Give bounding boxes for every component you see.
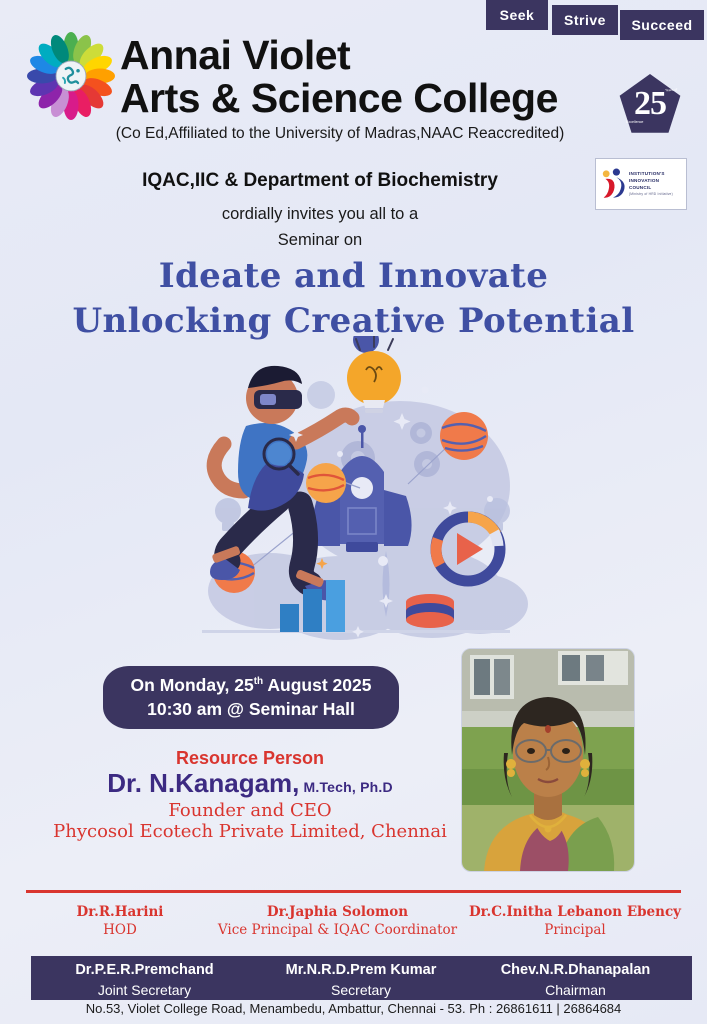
seminar-title: Ideate and Innovate Unlocking Creative P… xyxy=(0,254,707,344)
organizing-department: IQAC,IIC & Department of Biochemistry xyxy=(40,170,600,192)
flower-logo-icon xyxy=(27,32,115,120)
staff-row: Dr.R.Harini HOD Dr.Japhia Solomon Vice P… xyxy=(0,900,707,948)
resource-person-name: Dr. N.Kanagam, M.Tech, Ph.D xyxy=(30,768,470,799)
management-name: Chev.N.R.Dhanapalan xyxy=(468,961,683,981)
event-date: On Monday, 25th August 2025 xyxy=(131,674,372,698)
seminar-on-text: Seminar on xyxy=(40,231,600,250)
staff-name: Dr.Japhia Solomon xyxy=(215,904,460,922)
iic-line1: INSTITUTION'S xyxy=(629,171,673,178)
management-entry-joint-secretary: Dr.P.E.R.Premchand Joint Secretary xyxy=(37,961,252,999)
event-month-year: August 2025 xyxy=(263,675,371,695)
management-role: Secretary xyxy=(256,981,466,1000)
motto-tag-strive: Strive xyxy=(552,5,618,35)
staff-role: Principal xyxy=(455,922,695,940)
staff-role: Vice Principal & IQAC Coordinator xyxy=(215,922,460,940)
cordial-invite-text: cordially invites you all to a xyxy=(40,205,600,224)
anniversary-badge-icon: 25 Years of Excellence xyxy=(617,72,683,138)
staff-name: Dr.R.Harini xyxy=(30,904,210,922)
management-bar: Dr.P.E.R.Premchand Joint Secretary Mr.N.… xyxy=(31,956,692,1000)
management-name: Mr.N.R.D.Prem Kumar xyxy=(256,961,466,981)
management-role: Chairman xyxy=(468,981,683,1000)
anniversary-badge-number: 25 xyxy=(617,72,683,138)
event-datetime-box: On Monday, 25th August 2025 10:30 am @ S… xyxy=(103,666,399,729)
college-name: Annai Violet Arts & Science College xyxy=(120,34,610,121)
iic-line4: (Ministry of HRD Initiative) xyxy=(629,192,673,197)
staff-entry-principal: Dr.C.Initha Lebanon Ebency Principal xyxy=(455,904,695,939)
iic-line2: INNOVATION xyxy=(629,178,673,185)
anniversary-badge-bottom-text: Excellence xyxy=(626,120,643,124)
iic-logo-text: INSTITUTION'S INNOVATION COUNCIL (Minist… xyxy=(629,171,673,197)
iic-mark-icon xyxy=(600,167,626,201)
event-date-ordinal: th xyxy=(254,676,263,687)
staff-entry-vice-principal: Dr.Japhia Solomon Vice Principal & IQAC … xyxy=(215,904,460,939)
iic-logo: INSTITUTION'S INNOVATION COUNCIL (Minist… xyxy=(595,158,687,210)
red-divider xyxy=(26,890,681,893)
event-time-venue: 10:30 am @ Seminar Hall xyxy=(147,698,355,722)
management-entry-secretary: Mr.N.R.D.Prem Kumar Secretary xyxy=(256,961,466,999)
motto-tag-succeed: Succeed xyxy=(620,10,704,40)
college-name-line1: Annai Violet xyxy=(120,32,350,78)
resource-person-label: Resource Person xyxy=(40,748,460,769)
management-entry-chairman: Chev.N.R.Dhanapalan Chairman xyxy=(468,961,683,999)
staff-entry-hod: Dr.R.Harini HOD xyxy=(30,904,210,939)
college-affiliation: (Co Ed,Affiliated to the University of M… xyxy=(60,125,620,143)
management-name: Dr.P.E.R.Premchand xyxy=(37,961,252,981)
management-role: Joint Secretary xyxy=(37,981,252,1000)
college-address: No.53, Violet College Road, Menambedu, A… xyxy=(0,1001,707,1016)
resource-person-role: Founder and CEO xyxy=(40,800,460,821)
event-date-text: On Monday, 25 xyxy=(131,675,254,695)
innovation-rocket-illustration xyxy=(150,336,570,656)
poster-root: Seek Strive Succeed xyxy=(0,0,707,1024)
speaker-photo xyxy=(461,648,635,872)
anniversary-badge-top-text: Years of xyxy=(665,88,678,93)
iic-line3: COUNCIL xyxy=(629,185,673,192)
college-name-line2: Arts & Science College xyxy=(120,77,610,120)
staff-name: Dr.C.Initha Lebanon Ebency xyxy=(455,904,695,922)
resource-person-name-text: Dr. N.Kanagam, xyxy=(107,768,299,798)
resource-person-organization: Phycosol Ecotech Private Limited, Chenna… xyxy=(20,821,480,842)
seminar-title-line1: Ideate and Innovate xyxy=(0,254,707,299)
resource-person-degrees: M.Tech, Ph.D xyxy=(299,779,392,795)
staff-role: HOD xyxy=(30,922,210,940)
motto-tag-seek: Seek xyxy=(486,0,548,30)
